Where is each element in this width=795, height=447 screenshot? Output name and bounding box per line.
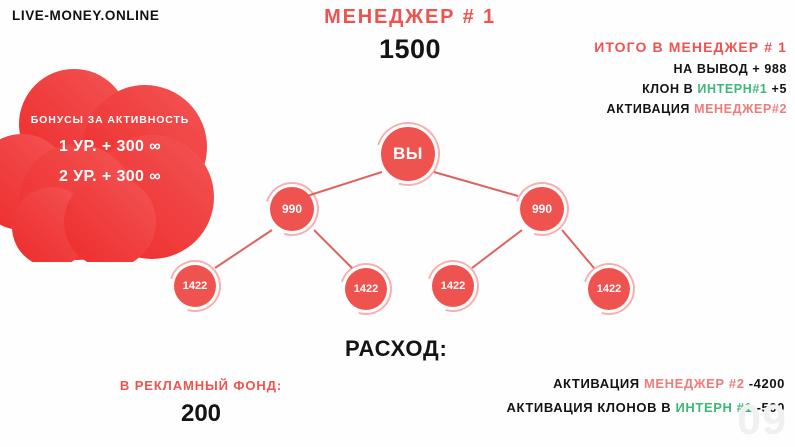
ad-fund-label: В РЕКЛАМНЫЙ ФОНД: bbox=[112, 378, 290, 393]
expense-line-suffix: -4200 bbox=[749, 376, 785, 391]
tree-node-label: 1422 bbox=[597, 283, 621, 295]
tree-node-leaf[interactable]: 1422 bbox=[588, 268, 630, 310]
expenses-title: РАСХОД: bbox=[345, 336, 448, 362]
tree-node-label: 1422 bbox=[183, 280, 207, 292]
tree-node-leaf[interactable]: 1422 bbox=[174, 265, 216, 307]
expenses-panel: АКТИВАЦИЯ МЕНЕДЖЕР #2 -4200 АКТИВАЦИЯ КЛ… bbox=[365, 376, 785, 424]
tree-node-level2-right[interactable]: 990 bbox=[520, 187, 564, 231]
ad-fund-value: 200 bbox=[112, 400, 290, 428]
expense-line-prefix: АКТИВАЦИЯ bbox=[553, 376, 640, 391]
tree-node-level2-left[interactable]: 990 bbox=[270, 187, 314, 231]
tree-node-leaf[interactable]: 1422 bbox=[345, 268, 387, 310]
tree-node-label: 990 bbox=[282, 202, 302, 216]
tree-node-label: 1422 bbox=[441, 280, 465, 292]
ad-fund-panel: В РЕКЛАМНЫЙ ФОНД: 200 bbox=[112, 378, 290, 428]
expense-line-highlight: МЕНЕДЖЕР #2 bbox=[644, 376, 745, 391]
expense-line: АКТИВАЦИЯ КЛОНОВ В ИНТЕРН #1 -500 bbox=[365, 400, 785, 415]
tree-node-label: ВЫ bbox=[393, 144, 423, 164]
expense-line-prefix: АКТИВАЦИЯ КЛОНОВ В bbox=[507, 400, 672, 415]
tree-node-label: 990 bbox=[532, 202, 552, 216]
page-number-watermark: 09 bbox=[737, 396, 787, 445]
tree-node-label: 1422 bbox=[354, 283, 378, 295]
slide-canvas: LIVE-MONEY.ONLINE МЕНЕДЖЕР # 1 1500 ИТОГ… bbox=[0, 0, 795, 447]
tree-node-leaf[interactable]: 1422 bbox=[432, 265, 474, 307]
expense-line: АКТИВАЦИЯ МЕНЕДЖЕР #2 -4200 bbox=[365, 376, 785, 391]
tree-node-root[interactable]: ВЫ bbox=[381, 127, 435, 181]
